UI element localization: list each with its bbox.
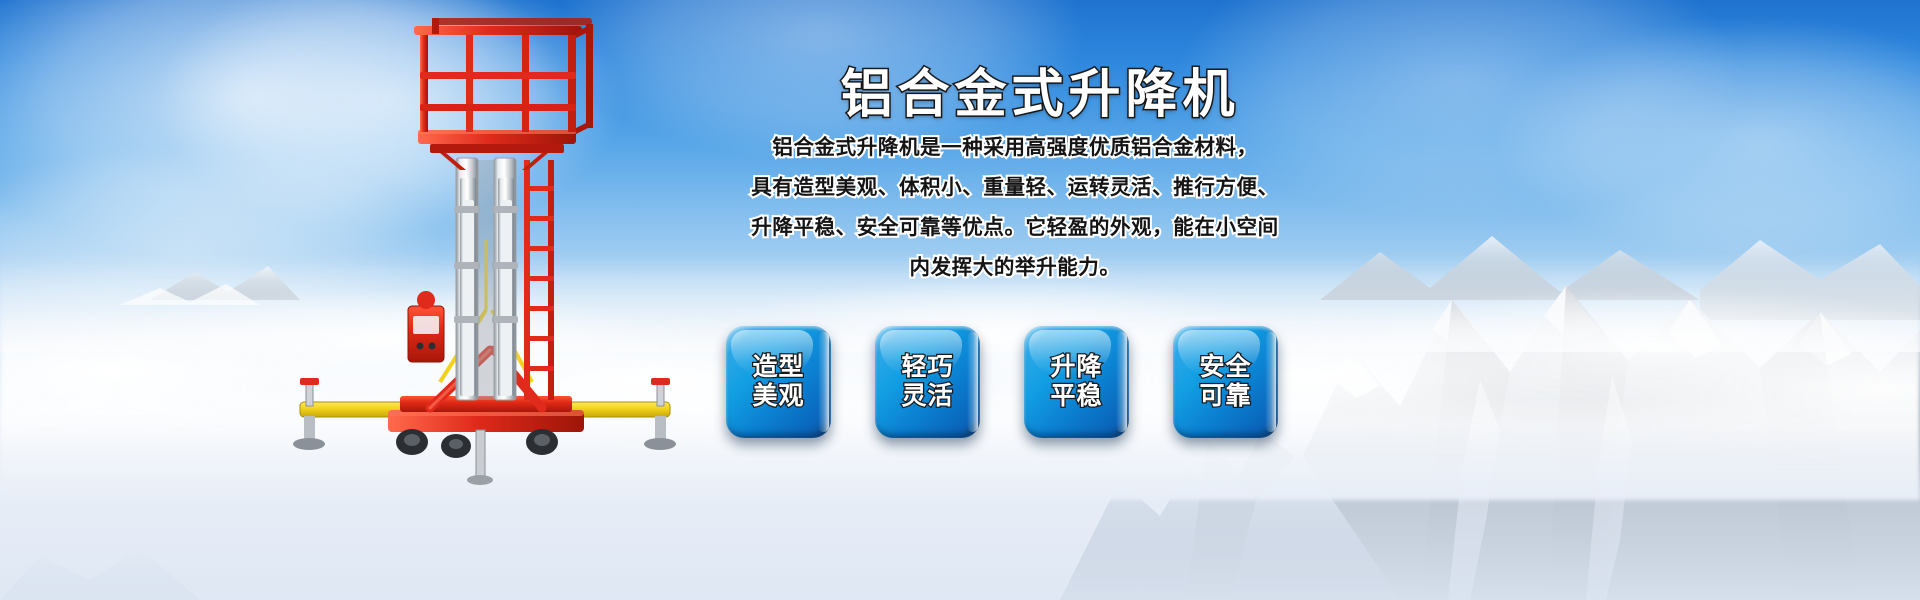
telescopic-mast bbox=[454, 158, 518, 400]
feature-badge-lightweight[interactable]: 轻巧 灵活 bbox=[875, 326, 980, 438]
hero-banner: 铝合金式升降机 铝合金式升降机是一种采用高强度优质铝合金材料， 具有造型美观、体… bbox=[0, 0, 1920, 600]
feature-badge-appearance[interactable]: 造型 美观 bbox=[726, 326, 831, 438]
feature-badge-line2: 灵活 bbox=[901, 382, 953, 411]
control-box bbox=[408, 291, 444, 362]
access-ladder bbox=[524, 160, 554, 400]
product-description: 铝合金式升降机是一种采用高强度优质铝合金材料， 具有造型美观、体积小、重量轻、运… bbox=[735, 132, 1295, 292]
description-line-3: 升降平稳、安全可靠等优点。它轻盈的外观，能在小空间 bbox=[735, 212, 1295, 244]
feature-badge-line1: 轻巧 bbox=[901, 353, 953, 382]
description-line-4: 内发挥大的举升能力。 bbox=[735, 252, 1295, 284]
feature-badge-safety[interactable]: 安全 可靠 bbox=[1173, 326, 1278, 438]
page-title: 铝合金式升降机 bbox=[760, 52, 1320, 127]
description-line-2: 具有造型美观、体积小、重量轻、运转灵活、推行方便、 bbox=[735, 172, 1295, 204]
feature-badge-line2: 平稳 bbox=[1050, 382, 1102, 411]
feature-badge-list: 造型 美观 轻巧 灵活 升降 平稳 安全 可靠 bbox=[726, 326, 1278, 438]
description-line-1: 铝合金式升降机是一种采用高强度优质铝合金材料， bbox=[735, 132, 1295, 164]
feature-badge-line2: 美观 bbox=[752, 382, 804, 411]
feature-badge-line1: 造型 bbox=[752, 353, 804, 382]
aluminium-alloy-lift-illustration bbox=[280, 10, 700, 500]
feature-badge-smooth-lifting[interactable]: 升降 平稳 bbox=[1024, 326, 1129, 438]
feature-badge-line1: 升降 bbox=[1050, 353, 1102, 382]
platform-guardrail bbox=[414, 18, 593, 134]
feature-badge-line1: 安全 bbox=[1199, 353, 1251, 382]
lift-chassis bbox=[388, 396, 584, 485]
feature-badge-line2: 可靠 bbox=[1199, 382, 1251, 411]
